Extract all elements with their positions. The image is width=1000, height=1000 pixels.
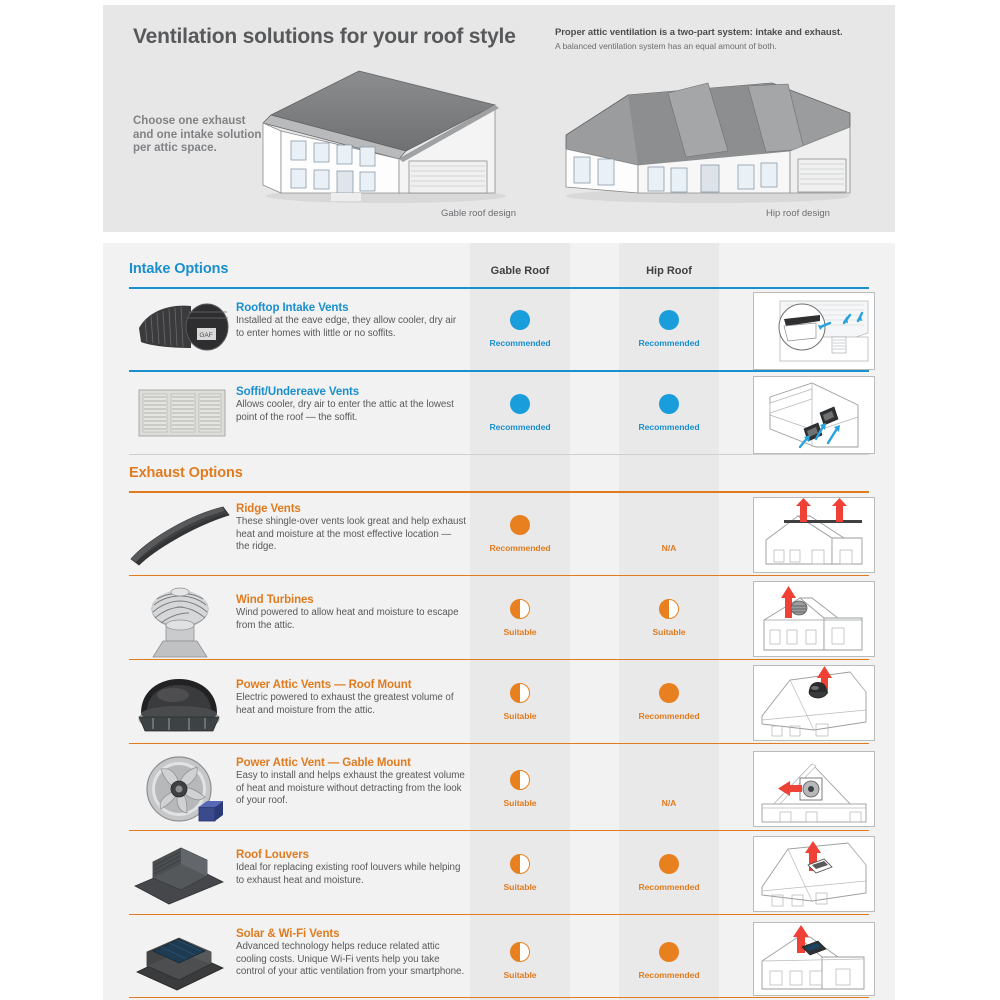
row-text-solar-wifi-vent: Solar & Wi-Fi Vents Advanced technology … bbox=[236, 928, 466, 979]
rating-hip: Recommended bbox=[619, 310, 719, 348]
product-image-soffit-undereave-vent bbox=[135, 382, 231, 444]
rating-label: N/A bbox=[619, 543, 719, 553]
hero-note: Proper attic ventilation is a two-part s… bbox=[555, 27, 875, 51]
svg-text:GAF: GAF bbox=[199, 332, 212, 339]
rating-dot-recommended-icon bbox=[659, 942, 679, 962]
hip-house-illustration bbox=[558, 53, 858, 203]
item-title: Power Attic Vent — Gable Mount bbox=[236, 757, 466, 769]
product-image-power-attic-vent-gable bbox=[137, 755, 233, 827]
hero-note-line2: A balanced ventilation system has an equ… bbox=[555, 41, 875, 51]
table-row[interactable]: Wind Turbines Wind powered to allow heat… bbox=[103, 577, 895, 662]
rating-label: Recommended bbox=[619, 970, 719, 980]
rating-dot-recommended-icon bbox=[659, 394, 679, 414]
table-row[interactable]: Solar & Wi-Fi Vents Advanced technology … bbox=[103, 916, 895, 1000]
rating-gable: Recommended bbox=[470, 515, 570, 553]
intake-heading-label: Intake Options bbox=[129, 261, 869, 277]
diagram-power-attic-gable-mount bbox=[753, 751, 875, 827]
diagram-soffit-undereave-intake bbox=[753, 376, 875, 454]
rating-dot-recommended-icon bbox=[510, 394, 530, 414]
rating-dot-recommended-icon bbox=[659, 854, 679, 874]
rating-label: Recommended bbox=[470, 338, 570, 348]
item-title: Roof Louvers bbox=[236, 849, 466, 861]
product-image-wind-turbine bbox=[139, 587, 235, 661]
hero-note-line1: Proper attic ventilation is a two-part s… bbox=[555, 27, 875, 38]
gable-house-illustration bbox=[251, 53, 511, 203]
diagram-wind-turbine-exhaust bbox=[753, 581, 875, 657]
row-divider bbox=[129, 914, 869, 915]
product-image-ridge-vent bbox=[127, 503, 223, 569]
hero-banner: Ventilation solutions for your roof styl… bbox=[103, 5, 895, 232]
rating-label: Recommended bbox=[619, 882, 719, 892]
row-text-power-attic-vent-gable: Power Attic Vent — Gable Mount Easy to i… bbox=[236, 757, 466, 808]
page-title: Ventilation solutions for your roof styl… bbox=[133, 25, 516, 49]
product-image-roof-louver bbox=[129, 842, 225, 910]
options-table-panel: Gable Roof Hip Roof Intake Options bbox=[103, 243, 895, 1000]
rating-dot-suitable-icon bbox=[510, 599, 530, 619]
row-divider bbox=[129, 659, 869, 660]
rating-gable: Suitable bbox=[470, 942, 570, 980]
rating-label: Recommended bbox=[619, 422, 719, 432]
rating-label: Recommended bbox=[619, 338, 719, 348]
rating-label: Suitable bbox=[619, 627, 719, 637]
rating-dot-recommended-icon bbox=[659, 683, 679, 703]
rating-dot-recommended-icon bbox=[510, 310, 530, 330]
row-divider bbox=[129, 997, 869, 998]
section-header-intake: Intake Options bbox=[129, 261, 869, 277]
hero-choose-text: Choose one exhaust and one intake soluti… bbox=[133, 115, 263, 156]
row-text-rooftop-intake-vent: Rooftop Intake Vents Installed at the ea… bbox=[236, 302, 466, 340]
rating-label: Suitable bbox=[470, 882, 570, 892]
caption-gable-roof: Gable roof design bbox=[441, 208, 516, 219]
item-title: Soffit/Undereave Vents bbox=[236, 386, 466, 398]
table-row[interactable]: GAF Rooftop Intake Vents Installed at th… bbox=[103, 288, 895, 373]
rating-gable: Suitable bbox=[470, 854, 570, 892]
section-header-exhaust: Exhaust Options bbox=[129, 465, 869, 481]
row-text-soffit-undereave-vent: Soffit/Undereave Vents Allows cooler, dr… bbox=[236, 386, 466, 424]
product-image-power-attic-vent-roof bbox=[129, 671, 225, 735]
diagram-solar-wifi-vent bbox=[753, 922, 875, 996]
rating-hip: Recommended bbox=[619, 394, 719, 432]
rating-dot-suitable-icon bbox=[659, 599, 679, 619]
item-description: Advanced technology helps reduce related… bbox=[236, 941, 466, 979]
row-divider bbox=[129, 830, 869, 831]
row-text-roof-louver: Roof Louvers Ideal for replacing existin… bbox=[236, 849, 466, 887]
rating-dot-suitable-icon bbox=[510, 942, 530, 962]
item-title: Wind Turbines bbox=[236, 594, 466, 606]
rating-hip: Recommended bbox=[619, 942, 719, 980]
rating-dot-suitable-icon bbox=[510, 770, 530, 790]
rating-label: Recommended bbox=[470, 543, 570, 553]
rating-label: Suitable bbox=[470, 798, 570, 808]
rating-gable: Recommended bbox=[470, 394, 570, 432]
table-row[interactable]: Roof Louvers Ideal for replacing existin… bbox=[103, 832, 895, 917]
table-row[interactable]: Power Attic Vents — Roof Mount Electric … bbox=[103, 661, 895, 746]
table-row[interactable]: Ridge Vents These shingle-over vents loo… bbox=[103, 493, 895, 578]
item-description: Allows cooler, dry air to enter the atti… bbox=[236, 399, 466, 424]
diagram-roof-louver-exhaust bbox=[753, 836, 875, 912]
rating-hip: N/A bbox=[619, 770, 719, 808]
row-text-power-attic-vent-roof: Power Attic Vents — Roof Mount Electric … bbox=[236, 679, 466, 717]
item-description: Easy to install and helps exhaust the gr… bbox=[236, 770, 466, 808]
rating-label: Recommended bbox=[619, 711, 719, 721]
item-title: Power Attic Vents — Roof Mount bbox=[236, 679, 466, 691]
rating-label: Suitable bbox=[470, 970, 570, 980]
product-image-rooftop-intake-vent: GAF bbox=[135, 298, 231, 360]
table-row[interactable]: Soffit/Undereave Vents Allows cooler, dr… bbox=[103, 372, 895, 457]
item-title: Rooftop Intake Vents bbox=[236, 302, 466, 314]
row-divider bbox=[129, 743, 869, 744]
rating-dot-suitable-icon bbox=[510, 683, 530, 703]
row-text-ridge-vent: Ridge Vents These shingle-over vents loo… bbox=[236, 503, 466, 554]
caption-hip-roof: Hip roof design bbox=[766, 208, 830, 219]
rating-hip: Recommended bbox=[619, 854, 719, 892]
item-title: Ridge Vents bbox=[236, 503, 466, 515]
item-description: Wind powered to allow heat and moisture … bbox=[236, 607, 466, 632]
row-divider bbox=[129, 575, 869, 576]
item-title: Solar & Wi-Fi Vents bbox=[236, 928, 466, 940]
rating-label: Suitable bbox=[470, 711, 570, 721]
exhaust-heading-label: Exhaust Options bbox=[129, 465, 869, 481]
rating-dot-recommended-icon bbox=[510, 515, 530, 535]
table-row[interactable]: Power Attic Vent — Gable Mount Easy to i… bbox=[103, 745, 895, 833]
rating-gable: Suitable bbox=[470, 770, 570, 808]
rating-hip: N/A bbox=[619, 515, 719, 553]
rating-label: N/A bbox=[619, 798, 719, 808]
diagram-ridge-vent-exhaust bbox=[753, 497, 875, 573]
item-description: Installed at the eave edge, they allow c… bbox=[236, 315, 466, 340]
rating-dot-suitable-icon bbox=[510, 854, 530, 874]
row-text-wind-turbine: Wind Turbines Wind powered to allow heat… bbox=[236, 594, 466, 632]
rating-dot-recommended-icon bbox=[659, 310, 679, 330]
item-description: Ideal for replacing existing roof louver… bbox=[236, 862, 466, 887]
rating-gable: Suitable bbox=[470, 599, 570, 637]
item-description: These shingle-over vents look great and … bbox=[236, 516, 466, 554]
rating-label: Recommended bbox=[470, 422, 570, 432]
rating-hip: Suitable bbox=[619, 599, 719, 637]
row-divider bbox=[129, 454, 869, 455]
diagram-eave-edge-intake bbox=[753, 292, 875, 370]
diagram-power-attic-roof-mount bbox=[753, 665, 875, 741]
rating-gable: Recommended bbox=[470, 310, 570, 348]
item-description: Electric powered to exhaust the greatest… bbox=[236, 692, 466, 717]
rating-label: Suitable bbox=[470, 627, 570, 637]
ventilation-solutions-infographic: Ventilation solutions for your roof styl… bbox=[0, 0, 1000, 1000]
product-image-solar-wifi-vent bbox=[129, 926, 225, 994]
rating-hip: Recommended bbox=[619, 683, 719, 721]
rating-gable: Suitable bbox=[470, 683, 570, 721]
